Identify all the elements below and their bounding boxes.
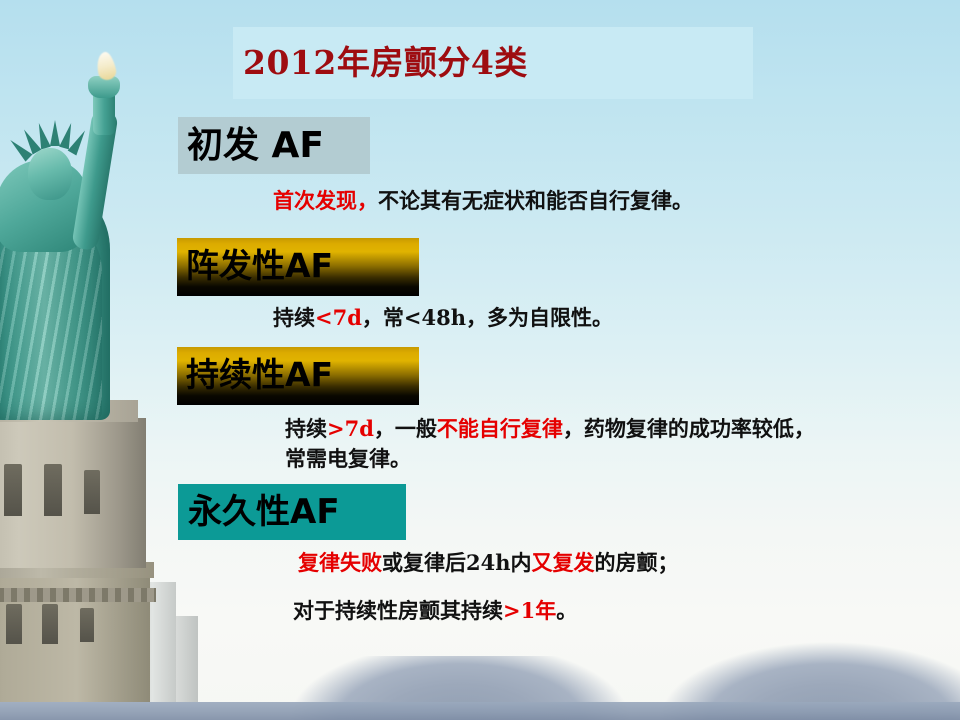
category-label-initial-af: 初发 AF bbox=[187, 128, 324, 164]
category-box-permanent-af: 永久性AF bbox=[178, 484, 406, 540]
description-initial-af: 首次发现，不论其有无症状和能否自行复律。 bbox=[273, 186, 693, 216]
category-box-paroxysmal-af: 阵发性AF bbox=[177, 238, 419, 296]
text-segment-red: 不能自行复律 bbox=[437, 416, 563, 441]
text-segment: ，药物复律的成功率较低， bbox=[563, 416, 815, 441]
description-permanent-af-line1: 复律失败或复律后24h内又复发的房颤； bbox=[298, 548, 679, 578]
category-box-persistent-af: 持续性AF bbox=[177, 347, 419, 405]
text-segment: 或复律后24h内 bbox=[382, 550, 532, 575]
slide-content: 2012年房颤分4类 初发 AF 首次发现，不论其有无症状和能否自行复律。 阵发… bbox=[0, 0, 960, 720]
text-segment: ，常<48h，多为自限性。 bbox=[362, 305, 613, 330]
slide-canvas: 2012年房颤分4类 初发 AF 首次发现，不论其有无症状和能否自行复律。 阵发… bbox=[0, 0, 960, 720]
category-label-paroxysmal-af: 阵发性AF bbox=[186, 249, 333, 282]
text-segment: 的房颤； bbox=[595, 550, 679, 575]
category-box-initial-af: 初发 AF bbox=[178, 117, 370, 174]
text-segment: 。 bbox=[556, 598, 577, 623]
category-label-persistent-af: 持续性AF bbox=[186, 358, 333, 391]
text-segment-red: <7d bbox=[315, 305, 362, 330]
description-permanent-af-line2: 对于持续性房颤其持续>1年。 bbox=[293, 596, 577, 626]
text-segment: 持续 bbox=[273, 305, 315, 330]
text-segment-red: >1年 bbox=[503, 598, 556, 623]
description-persistent-af: 持续>7d，一般不能自行复律，药物复律的成功率较低，常需电复律。 bbox=[285, 414, 925, 474]
text-segment-red: 又复发 bbox=[532, 550, 595, 575]
page-title: 2012年房颤分4类 bbox=[243, 36, 528, 84]
text-segment: 持续 bbox=[285, 416, 327, 441]
text-segment-red: 复律失败 bbox=[298, 550, 382, 575]
text-segment: ，一般 bbox=[374, 416, 437, 441]
text-segment: 不论其有无症状和能否自行复律。 bbox=[378, 188, 693, 213]
description-paroxysmal-af: 持续<7d，常<48h，多为自限性。 bbox=[273, 303, 613, 333]
text-segment-red: >7d bbox=[327, 416, 374, 441]
text-segment-red: 首次发现， bbox=[273, 188, 378, 213]
category-label-permanent-af: 永久性AF bbox=[188, 495, 340, 529]
text-segment: 对于持续性房颤其持续 bbox=[293, 598, 503, 623]
text-segment: 常需电复律。 bbox=[285, 446, 411, 471]
